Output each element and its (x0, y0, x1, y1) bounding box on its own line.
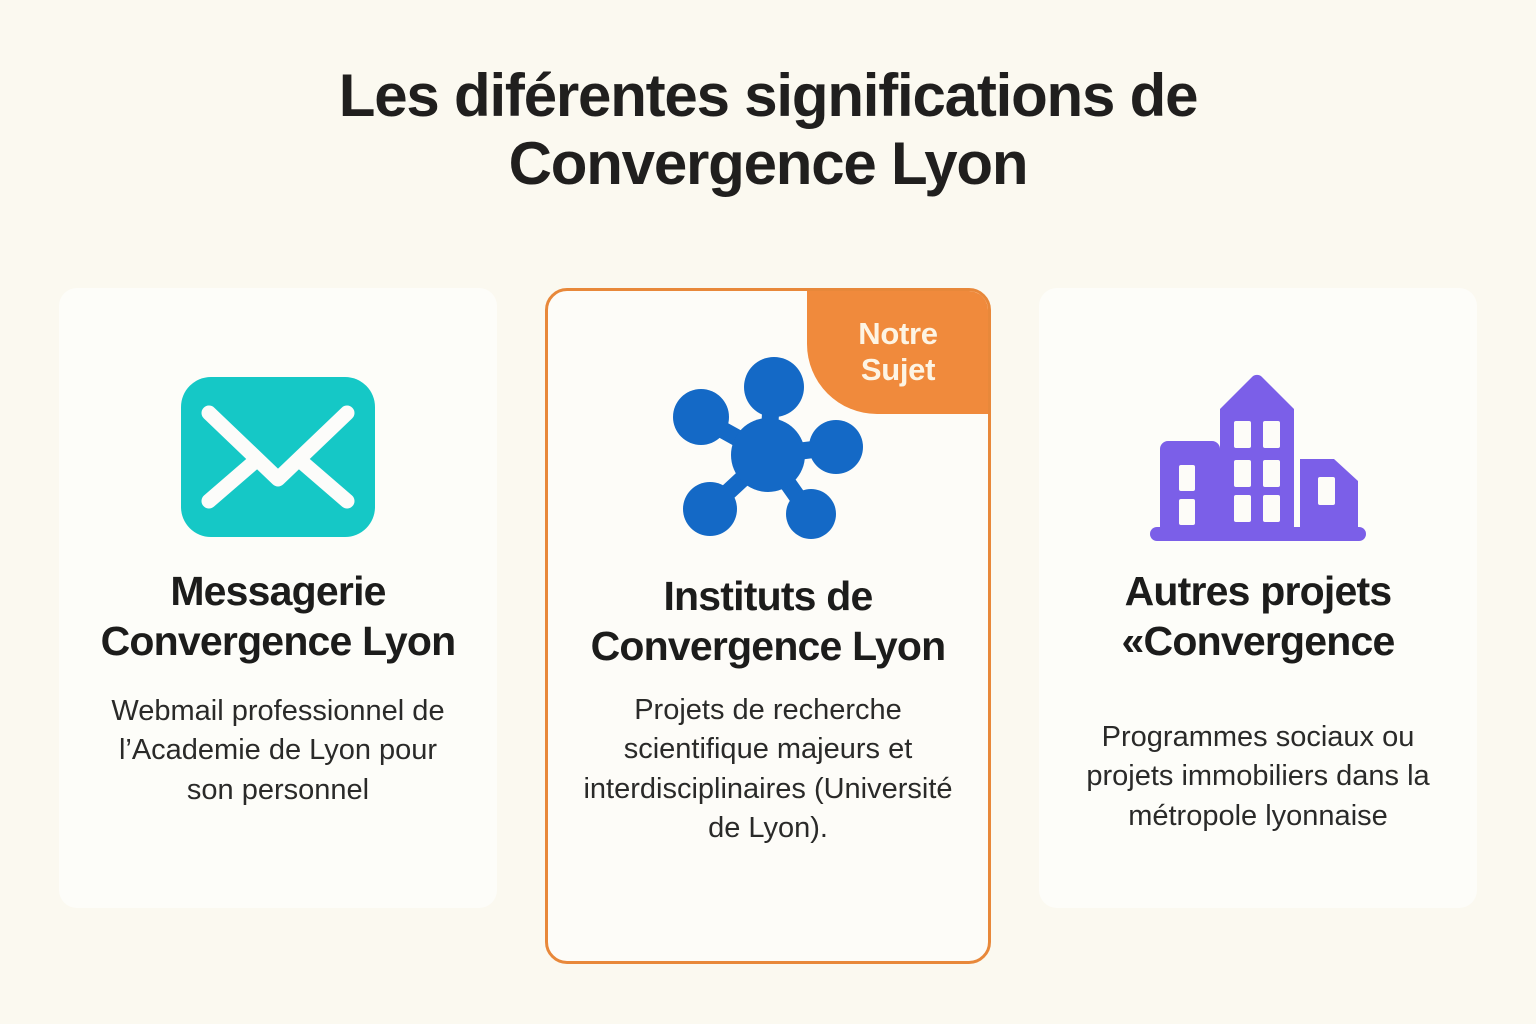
card-messagerie[interactable]: Messagerie Convergence Lyon Webmail prof… (59, 288, 497, 908)
card-instituts[interactable]: Notre Sujet (545, 288, 991, 964)
card-autres-projets[interactable]: Autres projets «Convergence Programmes s… (1039, 288, 1477, 908)
page-title: Les diférentes significations de Converg… (178, 0, 1358, 198)
cards-row: Messagerie Convergence Lyon Webmail prof… (0, 288, 1536, 964)
card-title: Autres projets «Convergence (1078, 566, 1438, 666)
buildings-icon (1150, 362, 1366, 552)
card-title: Instituts de Convergence Lyon (588, 571, 948, 671)
card-title: Messagerie Convergence Lyon (98, 566, 458, 666)
badge-line-1: Notre (858, 316, 937, 352)
badge-line-2: Sujet (861, 352, 935, 388)
notre-sujet-badge: Notre Sujet (807, 290, 989, 414)
card-description: Programmes sociaux ou projets immobilier… (1073, 718, 1443, 836)
card-description: Webmail professionnel de l’Academie de L… (93, 692, 463, 810)
card-description: Projets de recherche scientifique majeur… (583, 691, 953, 849)
envelope-icon (181, 362, 375, 552)
